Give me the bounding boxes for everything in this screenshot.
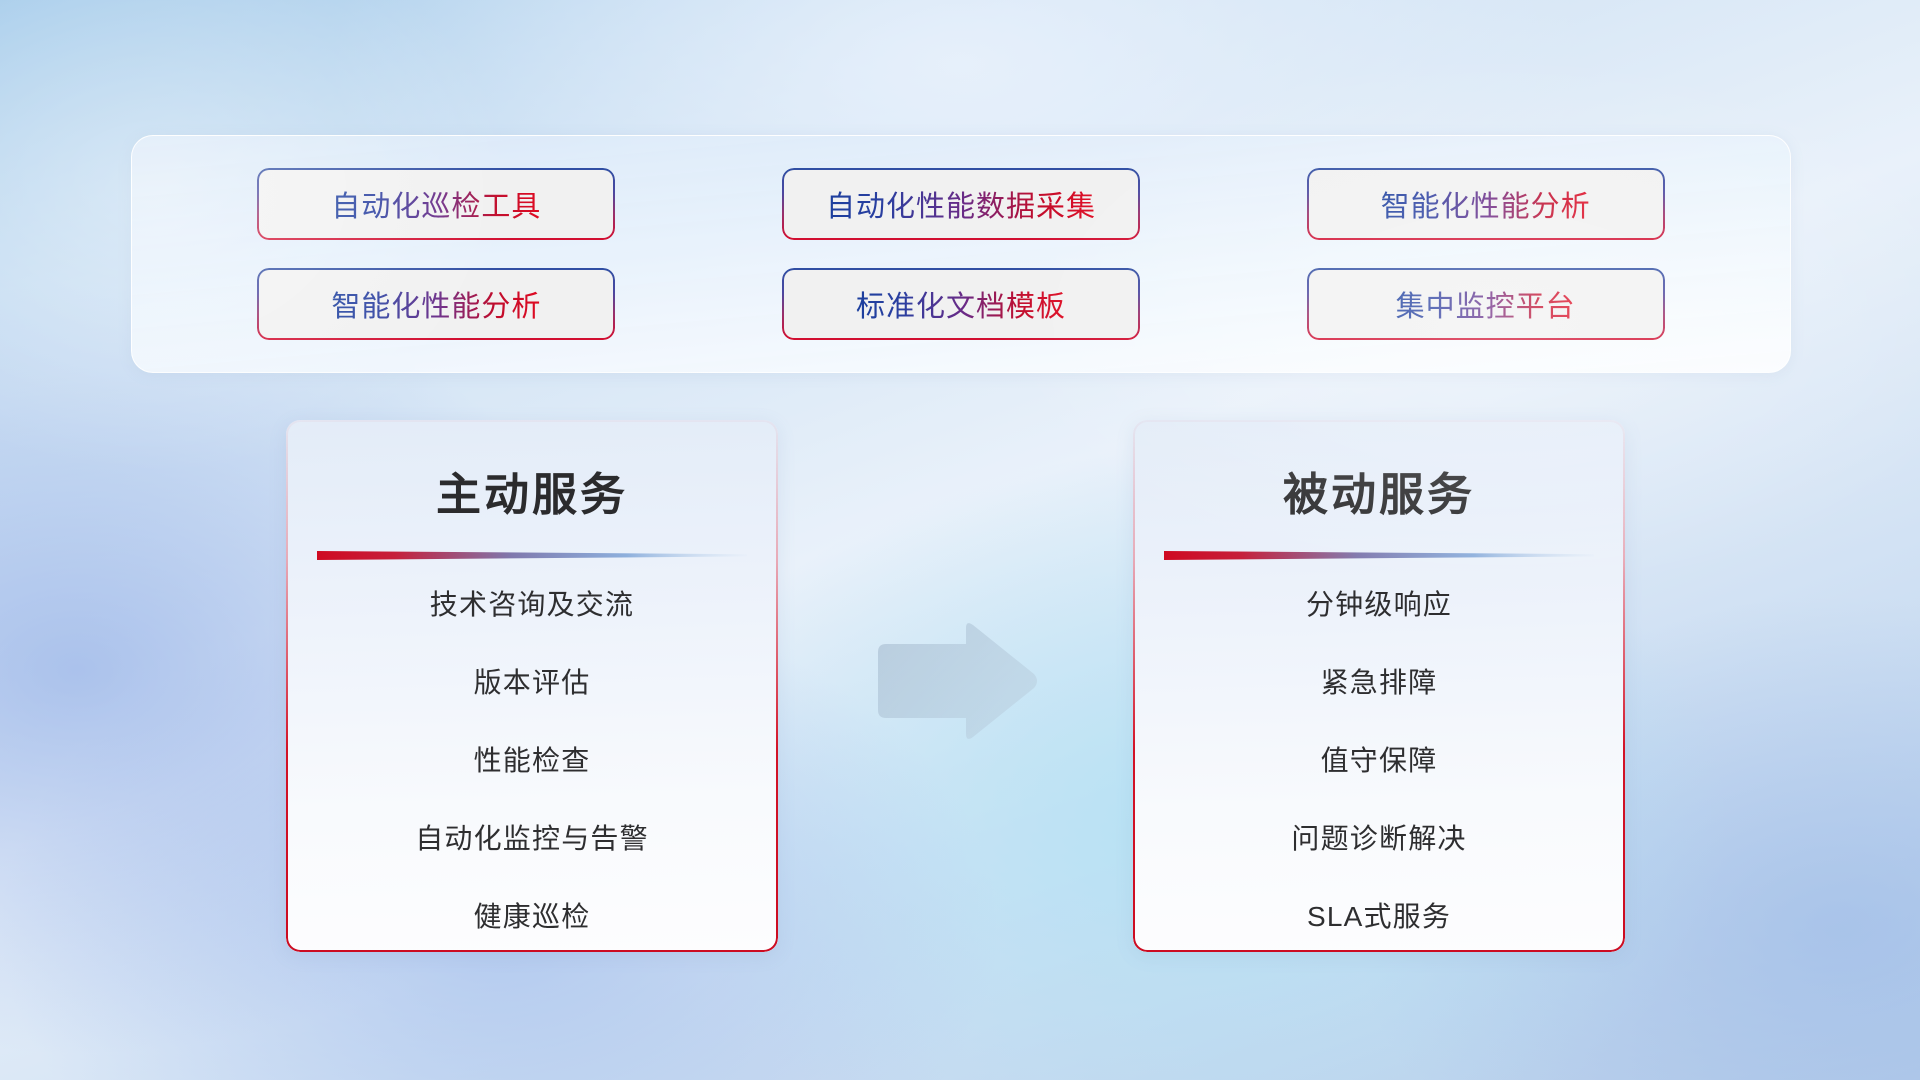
capability-pill-1-2[interactable]: 自动化性能数据采集: [782, 168, 1140, 240]
slide-canvas: 自动化巡检工具 自动化性能数据采集 智能化性能分析 智能化性能分析 标准化文档模…: [0, 0, 1920, 1080]
capability-pill-label: 标准化文档模板: [856, 283, 1066, 325]
capability-pill-label: 集中监控平台: [1396, 283, 1576, 325]
capability-row-1: 自动化巡检工具 自动化性能数据采集 智能化性能分析: [132, 168, 1790, 240]
card-title: 被动服务: [1133, 420, 1625, 523]
list-item: 版本评估: [286, 669, 778, 697]
card-title: 主动服务: [286, 420, 778, 523]
service-list-proactive: 技术咨询及交流 版本评估 性能检查 自动化监控与告警 健康巡检: [286, 561, 778, 931]
list-item: SLA式服务: [1133, 903, 1625, 931]
service-card-reactive: 被动服务 分钟级响应 紧急排障 值守保障 问题诊断解决: [1133, 420, 1625, 952]
list-item: 分钟级响应: [1133, 591, 1625, 619]
card-divider: [1164, 549, 1594, 561]
list-item: 健康巡检: [286, 903, 778, 931]
capability-pill-2-3[interactable]: 集中监控平台: [1307, 268, 1665, 340]
capability-pill-2-2[interactable]: 标准化文档模板: [782, 268, 1140, 340]
list-item: 性能检查: [286, 747, 778, 775]
capability-panel: 自动化巡检工具 自动化性能数据采集 智能化性能分析 智能化性能分析 标准化文档模…: [131, 135, 1791, 373]
capability-pill-2-1[interactable]: 智能化性能分析: [257, 268, 615, 340]
capability-pill-label: 智能化性能分析: [331, 283, 541, 325]
list-item: 值守保障: [1133, 747, 1625, 775]
capability-pill-label: 智能化性能分析: [1381, 183, 1591, 225]
service-list-reactive: 分钟级响应 紧急排障 值守保障 问题诊断解决 SLA式服务: [1133, 561, 1625, 931]
arrow-right-icon: [872, 620, 1040, 742]
capability-row-2: 智能化性能分析 标准化文档模板 集中监控平台: [132, 268, 1790, 340]
list-item: 自动化监控与告警: [286, 825, 778, 853]
capability-pill-1-3[interactable]: 智能化性能分析: [1307, 168, 1665, 240]
capability-pill-label: 自动化性能数据采集: [826, 183, 1096, 225]
list-item: 技术咨询及交流: [286, 591, 778, 619]
capability-pill-label: 自动化巡检工具: [331, 183, 541, 225]
card-divider: [317, 549, 747, 561]
list-item: 问题诊断解决: [1133, 825, 1625, 853]
service-card-proactive: 主动服务 技术咨询及交流 版本评估 性能检查 自动化监控与告警: [286, 420, 778, 952]
list-item: 紧急排障: [1133, 669, 1625, 697]
capability-pill-1-1[interactable]: 自动化巡检工具: [257, 168, 615, 240]
